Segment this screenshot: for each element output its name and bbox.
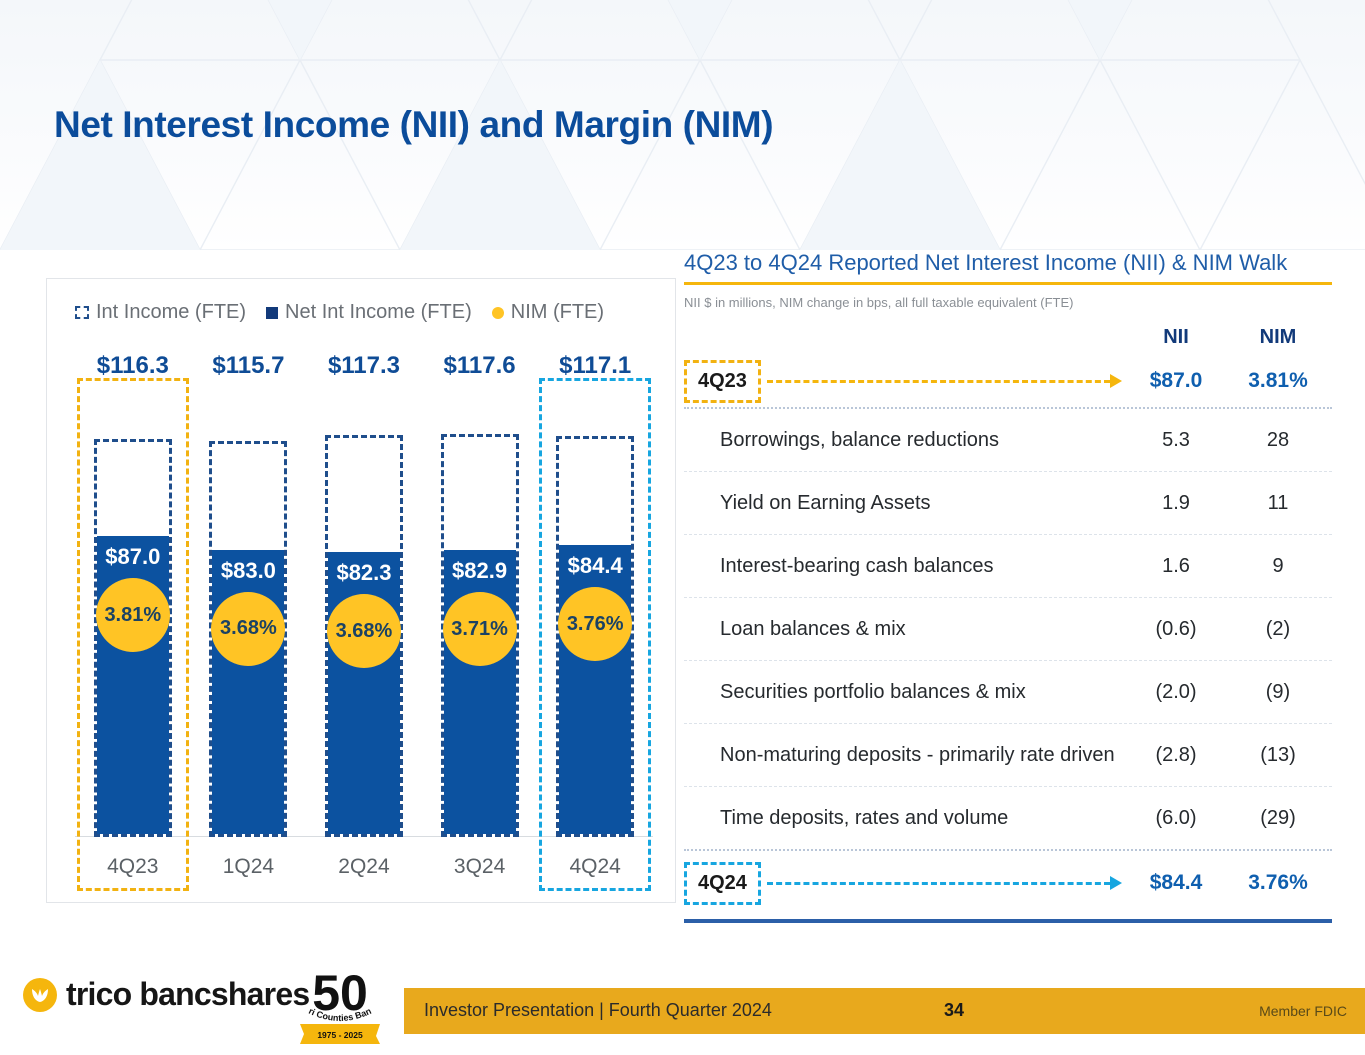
walk-row-nii: 5.3 [1128, 429, 1224, 452]
net-int-income-label: $84.4 [559, 553, 631, 579]
walk-start-nii: $87.0 [1128, 369, 1224, 393]
walk-row-nim: (9) [1224, 681, 1332, 704]
bar-column-3q24: $117.6$82.93.71%3Q24 [422, 334, 538, 899]
legend-item-net-int-income: Net Int Income (FTE) [266, 301, 472, 324]
arrow-line-icon [767, 380, 1110, 383]
walk-row-nim: (13) [1224, 744, 1332, 767]
walk-row-nim: 28 [1224, 429, 1332, 452]
walk-row-nii: (0.6) [1128, 618, 1224, 641]
int-income-label: $117.3 [306, 352, 422, 380]
nii-nim-chart-panel: Int Income (FTE) Net Int Income (FTE) NI… [46, 278, 676, 903]
footer-bar: Investor Presentation | Fourth Quarter 2… [404, 988, 1365, 1034]
net-int-income-bar: $82.93.71% [444, 550, 516, 834]
page-title: Net Interest Income (NII) and Margin (NI… [54, 104, 773, 146]
net-int-income-bar: $84.43.76% [559, 545, 631, 834]
net-int-income-label: $87.0 [97, 544, 169, 570]
walk-row-label: Loan balances & mix [684, 608, 1128, 650]
walk-end-nii: $84.4 [1128, 871, 1224, 895]
walk-start-tag: 4Q23 [684, 360, 761, 403]
walk-row-label: Yield on Earning Assets [684, 482, 1128, 524]
walk-rows: Borrowings, balance reductions5.328Yield… [684, 409, 1332, 849]
walk-start-arrow [767, 374, 1122, 388]
bar-group: $116.3$87.03.81%4Q23$115.7$83.03.68%1Q24… [75, 334, 653, 899]
walk-row-nim: 9 [1224, 555, 1332, 578]
dot-icon [492, 307, 504, 319]
fdic-notice: Member FDIC [1259, 1003, 1347, 1019]
table-row: Loan balances & mix(0.6)(2) [684, 598, 1332, 660]
category-label: 1Q24 [191, 855, 307, 879]
net-int-income-label: $83.0 [212, 558, 284, 584]
net-int-income-bar: $83.03.68% [212, 550, 284, 834]
walk-row-label: Interest-bearing cash balances [684, 545, 1128, 587]
walk-row-label: Time deposits, rates and volume [684, 797, 1128, 839]
walk-row-label: Non-maturing deposits - primarily rate d… [684, 734, 1128, 776]
walk-bottom-rule [684, 919, 1332, 923]
walk-end-nim: 3.76% [1224, 871, 1332, 895]
walk-title: 4Q23 to 4Q24 Reported Net Interest Incom… [684, 250, 1332, 282]
walk-row-nii: (6.0) [1128, 807, 1224, 830]
walk-header-nim: NIM [1224, 326, 1332, 349]
walk-row-nii: (2.0) [1128, 681, 1224, 704]
int-income-bar: $87.03.81% [94, 439, 172, 837]
walk-header-nii: NII [1128, 326, 1224, 349]
nim-bubble: 3.68% [211, 592, 285, 666]
category-label: 4Q23 [75, 855, 191, 879]
walk-end-tag: 4Q24 [684, 862, 761, 905]
walk-row-label: Securities portfolio balances & mix [684, 671, 1128, 713]
category-label: 4Q24 [537, 855, 653, 879]
walk-start-row: 4Q23 $87.0 3.81% [684, 355, 1332, 407]
walk-row-nii: (2.8) [1128, 744, 1224, 767]
chart-legend: Int Income (FTE) Net Int Income (FTE) NI… [75, 301, 604, 324]
legend-label-net-int-income: Net Int Income (FTE) [285, 301, 472, 324]
int-income-label: $117.1 [537, 352, 653, 380]
legend-item-nim: NIM (FTE) [492, 301, 604, 324]
arrow-head-icon [1110, 876, 1122, 890]
footer-text: Investor Presentation | Fourth Quarter 2… [424, 1000, 772, 1021]
int-income-label: $116.3 [75, 352, 191, 380]
walk-title-rule [684, 282, 1332, 285]
bar-column-2q24: $117.3$82.33.68%2Q24 [306, 334, 422, 899]
walk-row-nim: (29) [1224, 807, 1332, 830]
int-income-bar: $84.43.76% [556, 436, 634, 837]
walk-end-arrow [767, 876, 1122, 890]
walk-row-nim: 11 [1224, 492, 1332, 515]
walk-start-nim: 3.81% [1224, 369, 1332, 393]
bar-column-1q24: $115.7$83.03.68%1Q24 [191, 334, 307, 899]
nim-bubble: 3.71% [443, 592, 517, 666]
net-int-income-label: $82.9 [444, 558, 516, 584]
table-row: Yield on Earning Assets1.911 [684, 472, 1332, 534]
table-row: Interest-bearing cash balances1.69 [684, 535, 1332, 597]
legend-item-int-income: Int Income (FTE) [75, 301, 246, 324]
arrow-line-icon [767, 882, 1110, 885]
nim-bubble: 3.76% [558, 587, 632, 661]
bar-column-4q23: $116.3$87.03.81%4Q23 [75, 334, 191, 899]
page-number: 34 [944, 1000, 964, 1021]
int-income-label: $117.6 [422, 352, 538, 380]
walk-subtitle: NII $ in millions, NIM change in bps, al… [684, 295, 1332, 310]
int-income-bar: $82.93.71% [441, 434, 519, 837]
walk-row-nii: 1.6 [1128, 555, 1224, 578]
walk-header-spacer [684, 326, 1128, 349]
net-int-income-bar: $87.03.81% [97, 536, 169, 834]
table-row: Time deposits, rates and volume(6.0)(29) [684, 787, 1332, 849]
company-logo: trico bancshares [22, 976, 309, 1013]
table-row: Securities portfolio balances & mix(2.0)… [684, 661, 1332, 723]
table-row: Borrowings, balance reductions5.328 [684, 409, 1332, 471]
walk-end-row: 4Q24 $84.4 3.76% [684, 857, 1332, 909]
arrow-head-icon [1110, 374, 1122, 388]
dashed-box-icon [75, 306, 89, 319]
walk-row-nim: (2) [1224, 618, 1332, 641]
walk-row-label: Borrowings, balance reductions [684, 419, 1128, 461]
int-income-label: $115.7 [191, 352, 307, 380]
net-int-income-bar: $82.33.68% [328, 552, 400, 834]
bar-column-4q24: $117.1$84.43.76%4Q24 [537, 334, 653, 899]
category-label: 3Q24 [422, 855, 538, 879]
int-income-bar: $82.33.68% [325, 435, 403, 837]
chart-plot-area: $116.3$87.03.81%4Q23$115.7$83.03.68%1Q24… [75, 334, 653, 899]
category-label: 2Q24 [306, 855, 422, 879]
walk-column-headers: NII NIM [684, 326, 1332, 349]
tulip-icon [22, 977, 58, 1013]
nii-nim-walk-panel: 4Q23 to 4Q24 Reported Net Interest Incom… [684, 250, 1332, 923]
nim-bubble: 3.68% [327, 594, 401, 668]
square-icon [266, 307, 278, 319]
brand-name: trico bancshares [66, 976, 309, 1013]
legend-label-int-income: Int Income (FTE) [96, 301, 246, 324]
legend-label-nim: NIM (FTE) [511, 301, 604, 324]
walk-row-nii: 1.9 [1128, 492, 1224, 515]
table-row: Non-maturing deposits - primarily rate d… [684, 724, 1332, 786]
anniversary-logo: 50 Tri Counties Bank 1975 - 2025 [292, 962, 388, 1050]
walk-end-separator [684, 849, 1332, 851]
svg-text:1975 - 2025: 1975 - 2025 [317, 1030, 363, 1040]
nim-bubble: 3.81% [96, 578, 170, 652]
net-int-income-label: $82.3 [328, 560, 400, 586]
int-income-bar: $83.03.68% [209, 441, 287, 837]
